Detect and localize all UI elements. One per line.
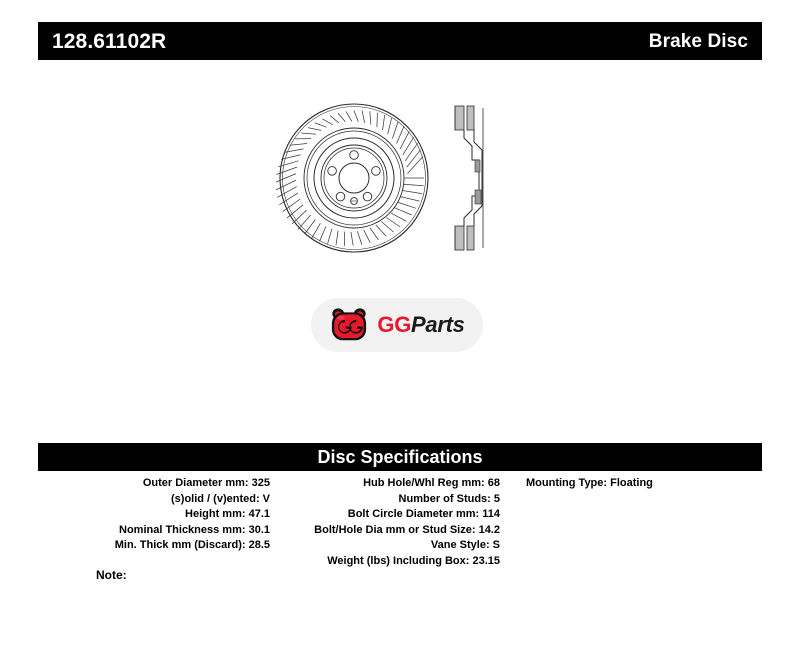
ggparts-bear-mascot-icon: [329, 307, 369, 343]
spec-line: Outer Diameter mm: 325: [38, 476, 270, 492]
spec-line: Nominal Thickness mm: 30.1: [38, 523, 270, 539]
brand-logo-text: GGParts: [377, 314, 464, 336]
brand-logo-gg: GG: [377, 312, 411, 337]
specifications-columns: Outer Diameter mm: 325 (s)olid / (v)ente…: [38, 476, 762, 569]
spec-column-mounting-type: Mounting Type: Floating: [522, 476, 762, 492]
spec-line: Mounting Type: Floating: [526, 476, 762, 492]
brake-rotor-cross-section-view: [455, 106, 483, 250]
spec-line: Height mm: 47.1: [38, 507, 270, 523]
spec-line: Bolt/Hole Dia mm or Stud Size: 14.2: [280, 523, 500, 539]
spec-line: Hub Hole/Whl Reg mm: 68: [280, 476, 500, 492]
note-label: Note:: [96, 569, 127, 581]
disc-specifications-bar: Disc Specifications: [38, 443, 762, 471]
header-bar: 128.61102R Brake Disc: [38, 22, 762, 60]
spec-sheet-page: 128.61102R Brake Disc: [0, 0, 800, 655]
brand-logo-parts: Parts: [411, 312, 465, 337]
disc-specifications-title: Disc Specifications: [317, 448, 482, 466]
brake-rotor-technical-drawing: [276, 98, 516, 268]
brake-rotor-front-view: [276, 104, 428, 252]
page-title: Brake Disc: [649, 32, 748, 51]
spec-line: Weight (lbs) Including Box: 23.15: [280, 554, 500, 570]
brand-logo: GGParts: [311, 298, 483, 352]
spec-line: (s)olid / (v)ented: V: [38, 492, 270, 508]
spec-line: Min. Thick mm (Discard): 28.5: [38, 538, 270, 554]
spec-line: Number of Studs: 5: [280, 492, 500, 508]
product-drawing-area: [38, 78, 762, 278]
spec-column-mounting-hardware: Hub Hole/Whl Reg mm: 68 Number of Studs:…: [280, 476, 522, 569]
spec-line: Bolt Circle Diameter mm: 114: [280, 507, 500, 523]
part-number: 128.61102R: [52, 31, 166, 52]
spec-column-dimensions: Outer Diameter mm: 325 (s)olid / (v)ente…: [38, 476, 280, 554]
spec-line: Vane Style: S: [280, 538, 500, 554]
